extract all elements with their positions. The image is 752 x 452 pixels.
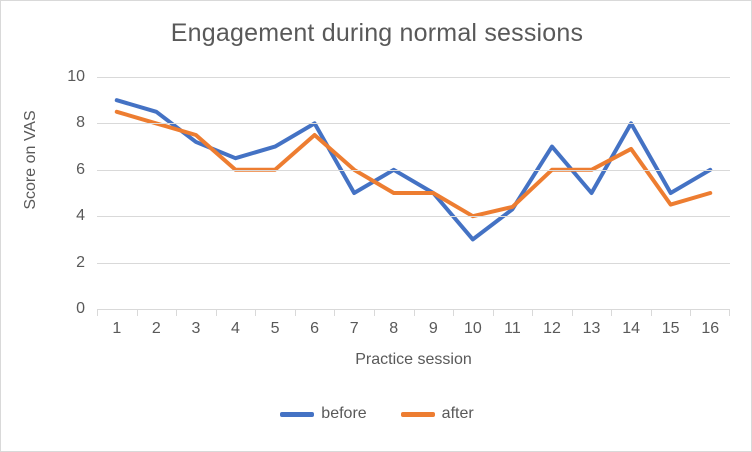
gridline bbox=[97, 170, 730, 171]
x-axis-tick-label: 10 bbox=[464, 319, 482, 340]
legend-label: before bbox=[321, 406, 366, 422]
x-axis-tick-mark bbox=[295, 309, 296, 316]
gridline bbox=[97, 263, 730, 264]
x-axis-tick-label: 2 bbox=[152, 319, 161, 340]
x-axis-tick-label: 6 bbox=[310, 319, 319, 340]
y-axis-tick-label: 10 bbox=[41, 69, 85, 85]
x-axis-tick-mark bbox=[216, 309, 217, 316]
x-axis-tick-mark bbox=[729, 309, 730, 316]
legend-label: after bbox=[442, 406, 474, 422]
y-axis-title: Score on VAS bbox=[22, 60, 40, 260]
x-axis-tick-mark bbox=[493, 309, 494, 316]
legend-item-after[interactable]: after bbox=[401, 406, 474, 422]
x-axis-tick-label: 1 bbox=[112, 319, 121, 340]
chart-container: Engagement during normal sessions Score … bbox=[0, 0, 752, 452]
x-axis-tick-mark bbox=[334, 309, 335, 316]
y-axis-tick-label: 4 bbox=[41, 208, 85, 224]
x-axis-tick-label: 12 bbox=[543, 319, 561, 340]
x-axis-tick-mark bbox=[611, 309, 612, 316]
x-axis-tick-label: 14 bbox=[622, 319, 640, 340]
x-axis-tick-mark bbox=[414, 309, 415, 316]
gridline bbox=[97, 123, 730, 124]
x-axis-tick-labels: 12345678910111213141516 bbox=[97, 319, 730, 343]
x-axis-tick-label: 11 bbox=[504, 319, 521, 340]
series-lines bbox=[97, 77, 730, 309]
x-axis-tick-mark bbox=[690, 309, 691, 316]
x-axis-tick-mark bbox=[176, 309, 177, 316]
legend-item-before[interactable]: before bbox=[280, 406, 366, 422]
x-axis-tick-mark bbox=[532, 309, 533, 316]
x-axis-tick-label: 15 bbox=[662, 319, 680, 340]
gridline bbox=[97, 77, 730, 78]
x-axis-tick-mark bbox=[651, 309, 652, 316]
x-axis-tick-label: 5 bbox=[271, 319, 280, 340]
y-axis-tick-label: 0 bbox=[41, 301, 85, 317]
x-axis-tick-label: 4 bbox=[231, 319, 240, 340]
x-axis-tick-mark bbox=[453, 309, 454, 316]
legend-swatch-icon bbox=[401, 412, 435, 417]
y-axis-tick-label: 2 bbox=[41, 255, 85, 271]
x-axis-tick-label: 3 bbox=[191, 319, 200, 340]
chart-legend: beforeafter bbox=[1, 406, 752, 422]
x-axis-tick-mark bbox=[374, 309, 375, 316]
x-axis-tick-label: 13 bbox=[583, 319, 601, 340]
x-axis-title: Practice session bbox=[97, 351, 730, 369]
x-axis-tick-label: 7 bbox=[350, 319, 359, 340]
x-axis-tick-label: 8 bbox=[389, 319, 398, 340]
x-axis-tick-mark bbox=[97, 309, 98, 316]
x-axis-tick-label: 9 bbox=[429, 319, 438, 340]
y-axis-tick-label: 8 bbox=[41, 115, 85, 131]
y-axis-tick-labels: 0246810 bbox=[41, 77, 85, 309]
y-axis-tick-label: 6 bbox=[41, 162, 85, 178]
x-axis-tick-mark bbox=[572, 309, 573, 316]
legend-swatch-icon bbox=[280, 412, 314, 417]
chart-title: Engagement during normal sessions bbox=[1, 19, 752, 48]
x-axis-tick-label: 16 bbox=[701, 319, 719, 340]
x-axis-tick-mark bbox=[137, 309, 138, 316]
gridline bbox=[97, 216, 730, 217]
x-axis-tick-marks bbox=[97, 309, 730, 316]
series-line-after bbox=[117, 112, 710, 216]
plot-area bbox=[97, 77, 730, 309]
x-axis-tick-mark bbox=[255, 309, 256, 316]
